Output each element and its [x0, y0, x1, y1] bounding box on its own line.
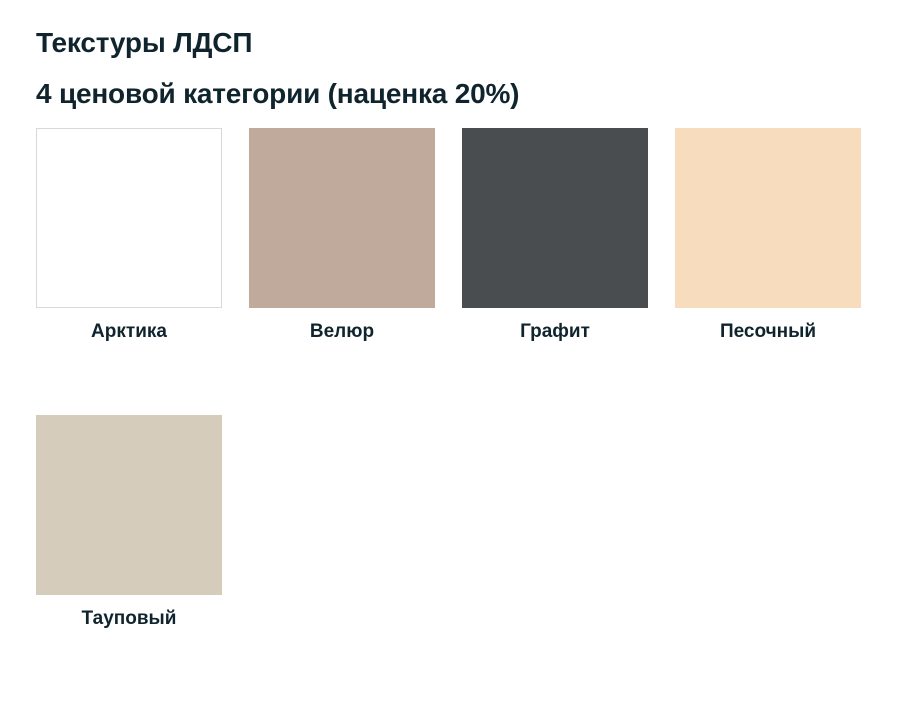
swatch-cell[interactable]: Графит — [462, 128, 648, 343]
swatch-label: Графит — [520, 321, 590, 343]
swatch-cell[interactable]: Тауповый — [36, 415, 222, 630]
swatch-label: Велюр — [310, 321, 374, 343]
swatch-label: Песочный — [720, 321, 816, 343]
swatch-cell[interactable]: Арктика — [36, 128, 222, 343]
swatch-color-chip[interactable] — [675, 128, 861, 308]
swatch-label: Арктика — [91, 321, 167, 343]
swatch-color-chip[interactable] — [462, 128, 648, 308]
swatch-color-chip[interactable] — [36, 128, 222, 308]
swatch-label: Тауповый — [82, 608, 177, 630]
swatch-color-chip[interactable] — [36, 415, 222, 595]
swatch-grid: АрктикаВелюрГрафитПесочныйТауповый — [36, 128, 864, 702]
swatch-cell[interactable]: Велюр — [249, 128, 435, 343]
swatch-cell[interactable]: Песочный — [675, 128, 861, 343]
page-subtitle: 4 ценовой категории (наценка 20%) — [36, 75, 856, 113]
swatch-color-chip[interactable] — [249, 128, 435, 308]
page-root: Текстуры ЛДСП 4 ценовой категории (нацен… — [0, 0, 900, 672]
page-header: Текстуры ЛДСП 4 ценовой категории (нацен… — [36, 24, 856, 113]
page-title: Текстуры ЛДСП — [36, 24, 856, 62]
